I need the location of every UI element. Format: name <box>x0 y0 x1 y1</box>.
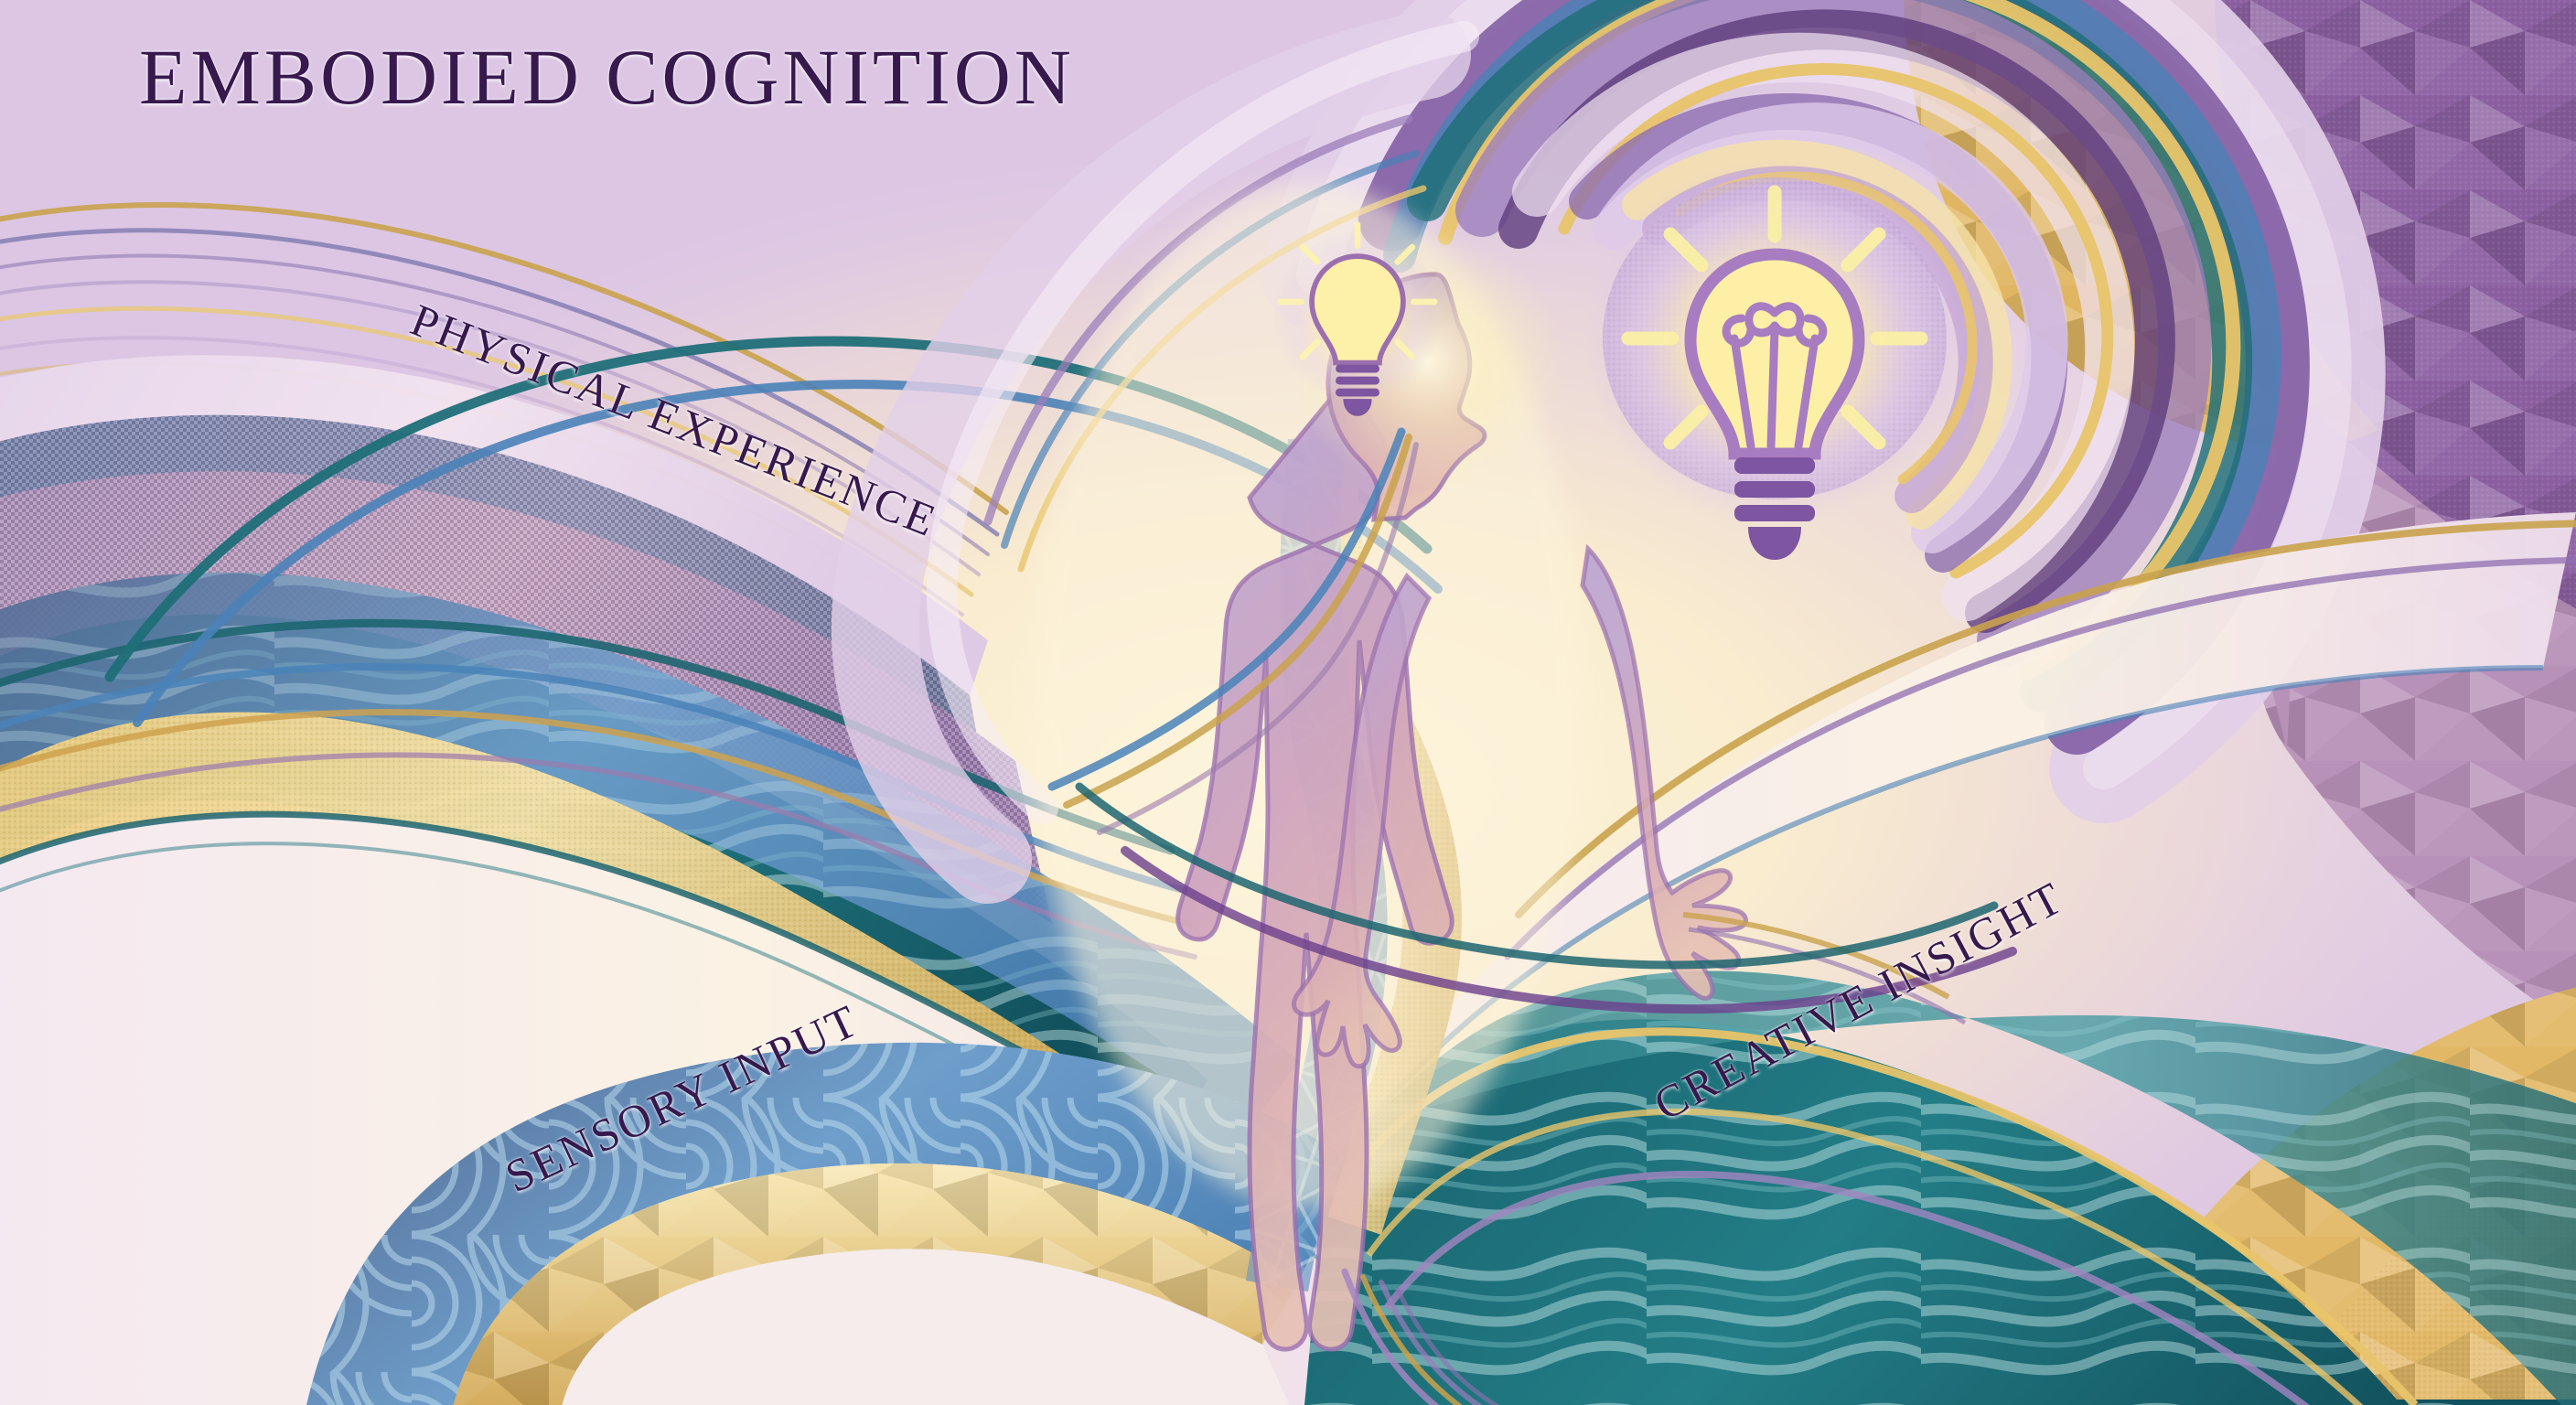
illustration-svg <box>0 0 2576 1405</box>
artwork-canvas: EMBODIED COGNITION PHYSICAL EXPERIENCE S… <box>0 0 2576 1405</box>
